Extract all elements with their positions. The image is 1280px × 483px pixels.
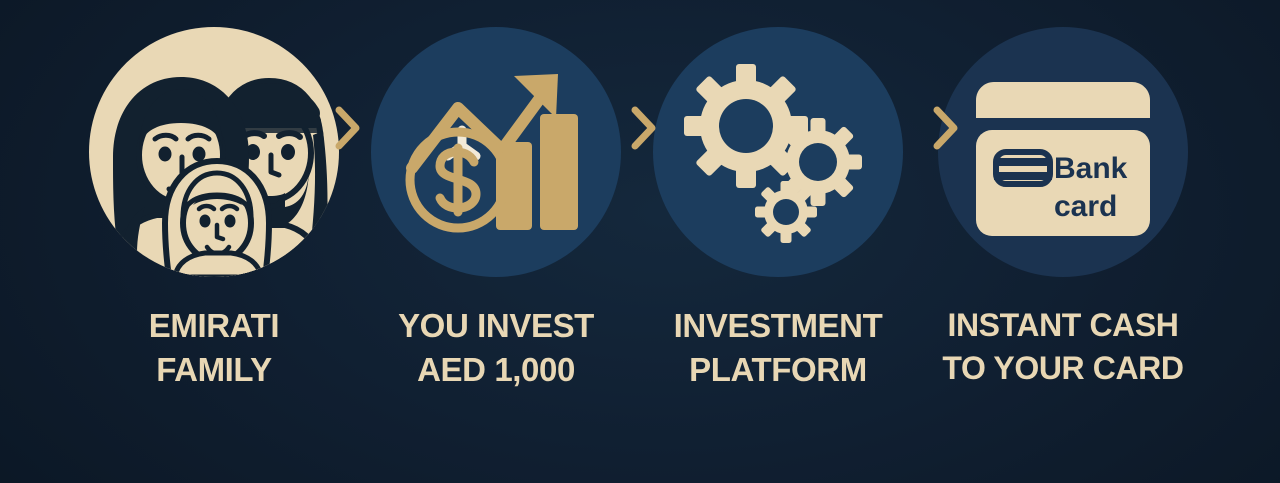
step-investment-platform[interactable]: INVESTMENT PLATFORM: [637, 0, 919, 420]
step-instant-cash[interactable]: Bank card INSTANT CASH TO YOUR CARD: [919, 0, 1207, 420]
step-you-invest[interactable]: YOU INVEST AED 1,000: [355, 0, 637, 420]
gears-icon: [678, 52, 878, 252]
steps-row: EMIRATI FAMILY: [0, 0, 1280, 483]
step-1-label: EMIRATI FAMILY: [149, 304, 279, 392]
growth-chart-dollar-icon: [396, 52, 596, 252]
step-2-label: YOU INVEST AED 1,000: [398, 304, 594, 392]
step-emirati-family[interactable]: EMIRATI FAMILY: [73, 0, 355, 420]
chevron-right-icon-1: [332, 105, 362, 151]
infographic-root: EMIRATI FAMILY: [0, 0, 1280, 483]
card-text-line-1: Bank: [1054, 152, 1128, 185]
step-4-icon-container: Bank card: [935, 24, 1191, 280]
step-4-label: INSTANT CASH TO YOUR CARD: [942, 304, 1183, 389]
card-text-line-2: card: [1054, 190, 1117, 223]
step-3-icon-container: [650, 24, 906, 280]
step-1-icon-container: [86, 24, 342, 280]
bank-card-icon: Bank card: [958, 52, 1168, 252]
chevron-right-icon-3: [930, 105, 960, 151]
step-3-label: INVESTMENT PLATFORM: [674, 304, 883, 392]
emirati-family-icon: [89, 27, 339, 277]
chevron-right-icon-2: [628, 105, 658, 151]
step-2-icon-container: [368, 24, 624, 280]
